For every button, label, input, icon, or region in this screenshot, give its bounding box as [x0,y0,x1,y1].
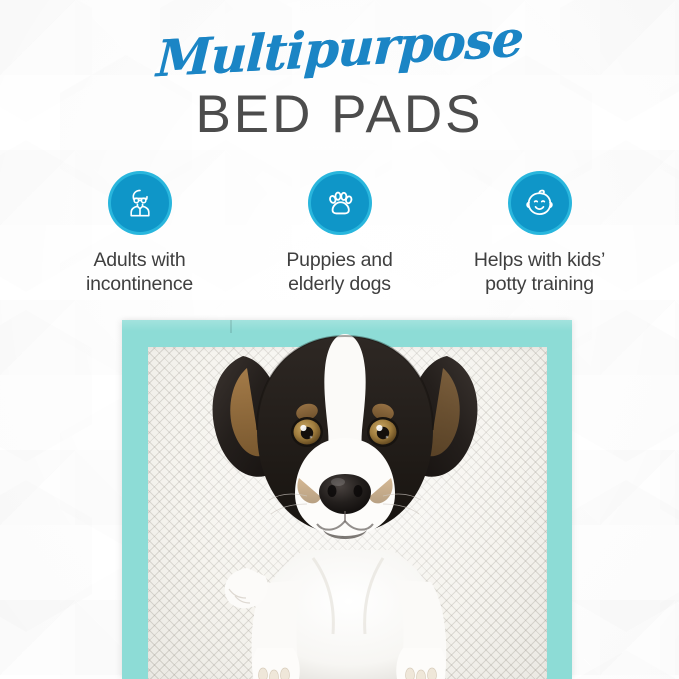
feature-label-puppies: Puppies and elderly dogs [286,249,392,297]
feature-list: Adults with incontinence Puppies and eld… [0,174,679,297]
feature-item-kids: Helps with kids’ potty training [440,174,640,297]
paw-print-badge [311,174,369,232]
feature-item-puppies: Puppies and elderly dogs [240,174,440,297]
dog-photo [195,318,495,679]
product-infographic: Multipurpose BED PADS [0,0,679,679]
elderly-person-icon [123,186,157,220]
elderly-person-badge [111,174,169,232]
feature-item-adults: Adults with incontinence [40,174,240,297]
feature-label-kids: Helps with kids’ potty training [474,249,605,297]
baby-face-icon [522,186,557,221]
feature-label-adults: Adults with incontinence [86,249,193,297]
baby-face-badge [511,174,569,232]
page-title: BED PADS [0,88,679,141]
paw-print-icon [323,186,357,220]
